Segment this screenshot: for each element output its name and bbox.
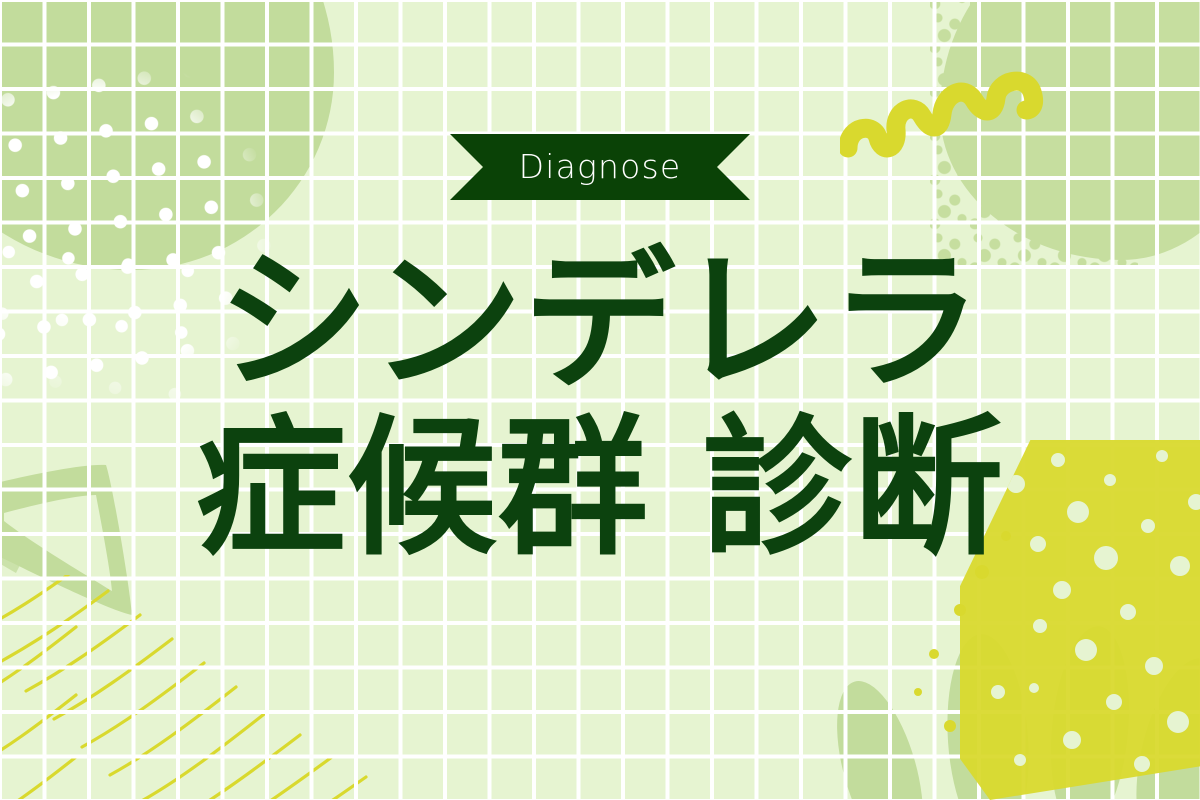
speckled-blob-decoration (940, 0, 1200, 260)
page-title: シンデレラ 症候群 診断 (0, 246, 1200, 564)
title-line-2: 症候群 診断 (0, 414, 1200, 564)
ribbon-banner: Diagnose (0, 134, 1200, 200)
title-line-1: シンデレラ (0, 246, 1200, 398)
banner-canvas: Diagnose シンデレラ 症候群 診断 (0, 0, 1200, 800)
diagonal-hatch-decoration (0, 575, 400, 800)
ribbon-shape: Diagnose (450, 134, 750, 200)
ribbon-label: Diagnose (519, 150, 682, 185)
leaf-shapes-decoration (820, 580, 1200, 800)
